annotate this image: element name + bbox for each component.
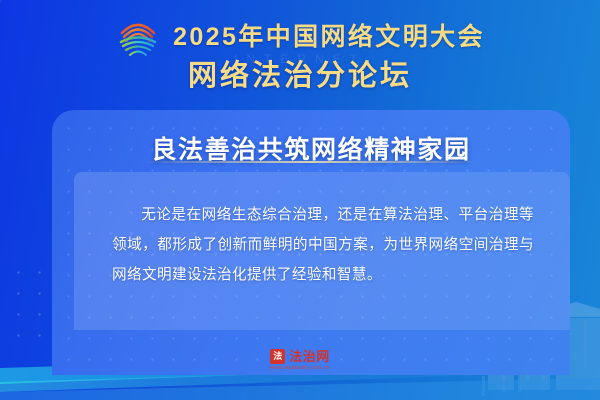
quote-panel: 无论是在网络生态综合治理，还是在算法治理、平台治理等领域，都形成了创新而鲜明的中… xyxy=(74,172,570,330)
watermark-url: www.legaldaily.com.cn xyxy=(0,365,600,371)
poster-header: 2025年中国网络文明大会 网络法治分论坛 xyxy=(0,0,600,112)
quote-text: 无论是在网络生态综合治理，还是在算法治理、平台治理等领域，都形成了创新而鲜明的中… xyxy=(112,200,534,290)
conference-main-title: 2025年中国网络文明大会 xyxy=(173,25,485,50)
header-title-row: 2025年中国网络文明大会 xyxy=(0,20,600,54)
conference-subtitle: 网络法治分论坛 xyxy=(188,62,412,91)
gold-divider xyxy=(144,161,478,163)
conference-poster: INTERNET xyxy=(0,0,600,400)
content-card: 良法善治共筑网络精神家园 无论是在网络生态综合治理，还是在算法治理、平台治理等领… xyxy=(52,110,570,375)
pagoda-conference-logo-icon xyxy=(115,16,161,58)
watermark-badge-icon: 法 xyxy=(270,349,285,364)
header-subtitle-row: 网络法治分论坛 xyxy=(0,56,600,96)
watermark-site-name: 法治网 xyxy=(289,350,330,363)
site-watermark: 法 法治网 www.legaldaily.com.cn xyxy=(0,349,600,364)
